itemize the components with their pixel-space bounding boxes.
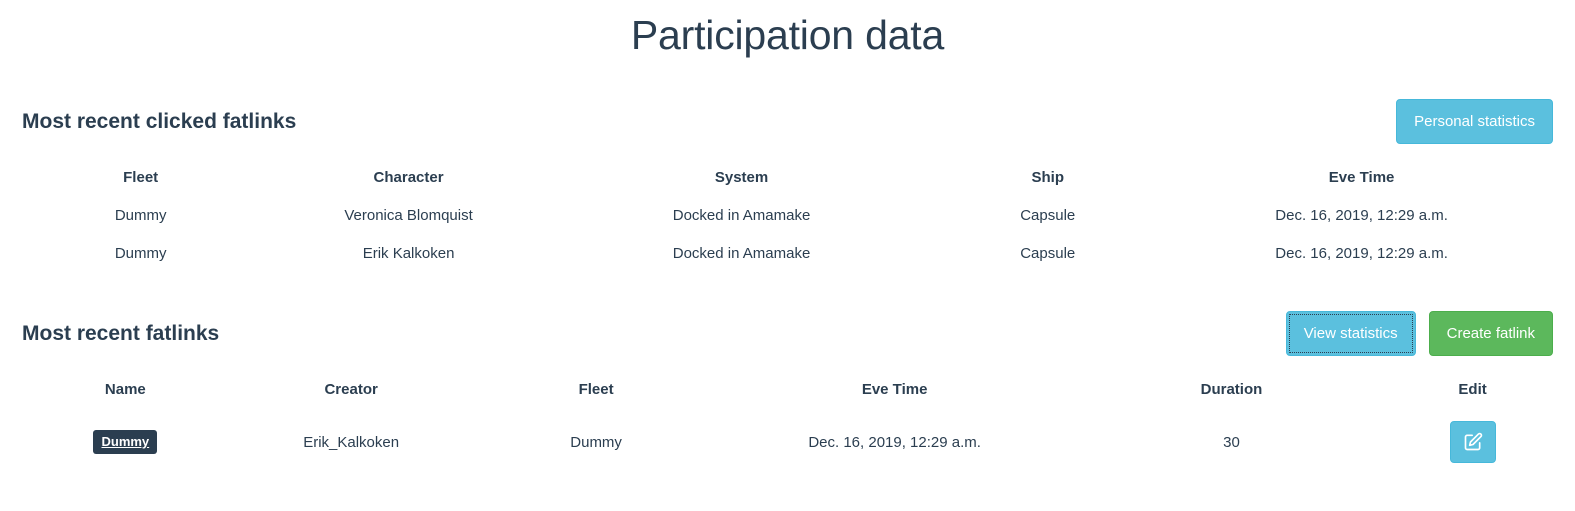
clicked-fatlinks-table-wrapper: Fleet Character System Ship Eve Time Dum…: [22, 156, 1553, 273]
recent-fatlinks-actions: View statistics Create fatlink: [1286, 311, 1553, 356]
column-header-system: System: [558, 156, 925, 197]
edit-square-pencil-icon: [1463, 432, 1483, 452]
cell-duration: 30: [1071, 409, 1393, 473]
clicked-fatlinks-actions: Personal statistics: [1396, 99, 1553, 144]
table-row: Dummy Erik_Kalkoken Dummy Dec. 16, 2019,…: [22, 409, 1553, 473]
recent-fatlinks-table: Name Creator Fleet Eve Time Duration Edi…: [22, 368, 1553, 473]
cell-character: Veronica Blomquist: [259, 197, 558, 235]
cell-edit: [1392, 409, 1553, 473]
column-header-eve-time: Eve Time: [1170, 156, 1553, 197]
table-head: Name Creator Fleet Eve Time Duration Edi…: [22, 368, 1553, 409]
column-header-fleet: Fleet: [474, 368, 719, 409]
cell-fleet: Dummy: [474, 409, 719, 473]
cell-eve-time: Dec. 16, 2019, 12:29 a.m.: [719, 409, 1071, 473]
fatlink-name-badge-link[interactable]: Dummy: [93, 430, 157, 454]
edit-fatlink-button[interactable]: [1450, 421, 1496, 463]
column-header-fleet: Fleet: [22, 156, 259, 197]
view-statistics-button[interactable]: View statistics: [1286, 311, 1416, 356]
participation-data-page: Participation data Most recent clicked f…: [0, 13, 1575, 511]
table-row: Dummy Veronica Blomquist Docked in Amama…: [22, 197, 1553, 235]
personal-statistics-button[interactable]: Personal statistics: [1396, 99, 1553, 144]
column-header-ship: Ship: [925, 156, 1170, 197]
cell-fleet: Dummy: [22, 235, 259, 273]
column-header-character: Character: [259, 156, 558, 197]
table-body: Dummy Erik_Kalkoken Dummy Dec. 16, 2019,…: [22, 409, 1553, 473]
cell-eve-time: Dec. 16, 2019, 12:29 a.m.: [1170, 197, 1553, 235]
cell-character: Erik Kalkoken: [259, 235, 558, 273]
cell-system: Docked in Amamake: [558, 235, 925, 273]
recent-fatlinks-table-wrapper: Name Creator Fleet Eve Time Duration Edi…: [22, 368, 1553, 473]
cell-fleet: Dummy: [22, 197, 259, 235]
column-header-edit: Edit: [1392, 368, 1553, 409]
table-header-row: Fleet Character System Ship Eve Time: [22, 156, 1553, 197]
recent-fatlinks-header-bar: Most recent fatlinks View statistics Cre…: [22, 311, 1553, 356]
table-header-row: Name Creator Fleet Eve Time Duration Edi…: [22, 368, 1553, 409]
clicked-fatlinks-heading: Most recent clicked fatlinks: [22, 109, 296, 134]
column-header-eve-time: Eve Time: [719, 368, 1071, 409]
column-header-duration: Duration: [1071, 368, 1393, 409]
recent-fatlinks-heading: Most recent fatlinks: [22, 321, 219, 346]
cell-creator: Erik_Kalkoken: [229, 409, 474, 473]
cell-system: Docked in Amamake: [558, 197, 925, 235]
cell-name: Dummy: [22, 409, 229, 473]
column-header-name: Name: [22, 368, 229, 409]
cell-ship: Capsule: [925, 197, 1170, 235]
cell-ship: Capsule: [925, 235, 1170, 273]
table-body: Dummy Veronica Blomquist Docked in Amama…: [22, 197, 1553, 273]
table-head: Fleet Character System Ship Eve Time: [22, 156, 1553, 197]
fatlink-name-badge-label: Dummy: [101, 434, 149, 449]
page-title: Participation data: [22, 13, 1553, 58]
table-row: Dummy Erik Kalkoken Docked in Amamake Ca…: [22, 235, 1553, 273]
clicked-fatlinks-table: Fleet Character System Ship Eve Time Dum…: [22, 156, 1553, 273]
create-fatlink-button[interactable]: Create fatlink: [1429, 311, 1553, 356]
cell-eve-time: Dec. 16, 2019, 12:29 a.m.: [1170, 235, 1553, 273]
clicked-fatlinks-header-bar: Most recent clicked fatlinks Personal st…: [22, 99, 1553, 144]
column-header-creator: Creator: [229, 368, 474, 409]
